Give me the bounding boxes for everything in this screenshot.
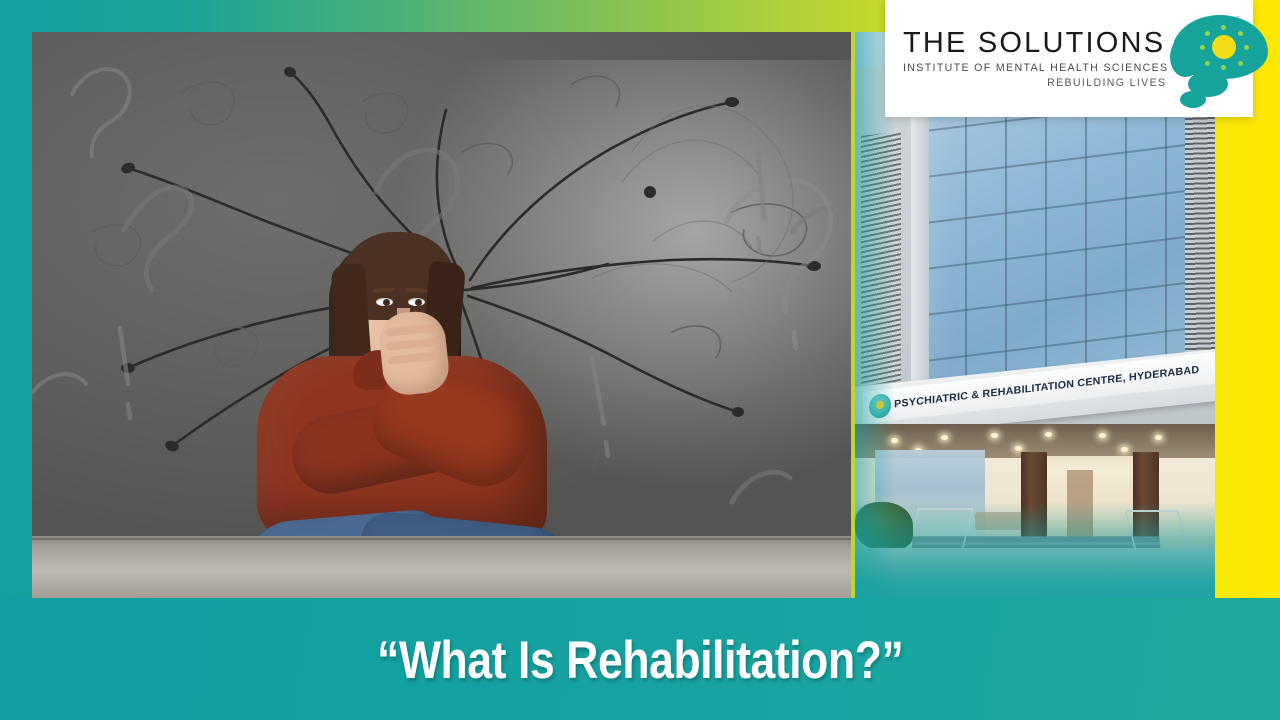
ceiling-light bbox=[1155, 435, 1162, 440]
brand-logo-card: THE SOLUTIONS INSTITUTE OF MENTAL HEALTH… bbox=[885, 0, 1253, 117]
logo-wordmark: THE SOLUTIONS INSTITUTE OF MENTAL HEALTH… bbox=[885, 28, 1168, 89]
pupil-right bbox=[415, 299, 422, 306]
ceiling-light bbox=[1099, 433, 1106, 438]
thought-bubble-small bbox=[1180, 91, 1206, 108]
page-title: “What Is Rehabilitation?” bbox=[377, 630, 903, 691]
ceiling-light bbox=[1015, 446, 1022, 451]
logo-line-primary: THE SOLUTIONS bbox=[903, 28, 1168, 58]
ceiling-light bbox=[941, 435, 948, 440]
finger bbox=[384, 324, 437, 337]
louver-panel-right bbox=[1185, 88, 1215, 388]
teal-gradient-overlay-bottom bbox=[855, 502, 1215, 598]
photo-woman-with-thoughts bbox=[32, 32, 851, 598]
title-container: “What Is Rehabilitation?” bbox=[0, 604, 1280, 716]
sun-icon bbox=[1212, 35, 1236, 59]
ceiling-light bbox=[991, 433, 998, 438]
pupil-left bbox=[383, 299, 390, 306]
finger bbox=[386, 337, 439, 350]
vertical-mullion-column bbox=[911, 74, 929, 424]
ceiling-light bbox=[1045, 432, 1052, 437]
finger bbox=[387, 351, 440, 364]
logo-line-secondary: INSTITUTE OF MENTAL HEALTH SCIENCES bbox=[903, 62, 1168, 74]
brain-thought-bubble-icon: ® bbox=[1168, 7, 1245, 111]
logo-line-tagline: REBUILDING LIVES bbox=[903, 77, 1168, 89]
poster-canvas: PSYCHIATRIC & REHABILITATION CENTRE, HYD… bbox=[0, 0, 1280, 720]
floor-wall-seam bbox=[32, 538, 851, 540]
floor bbox=[32, 536, 851, 598]
ceiling-light bbox=[1121, 447, 1128, 452]
